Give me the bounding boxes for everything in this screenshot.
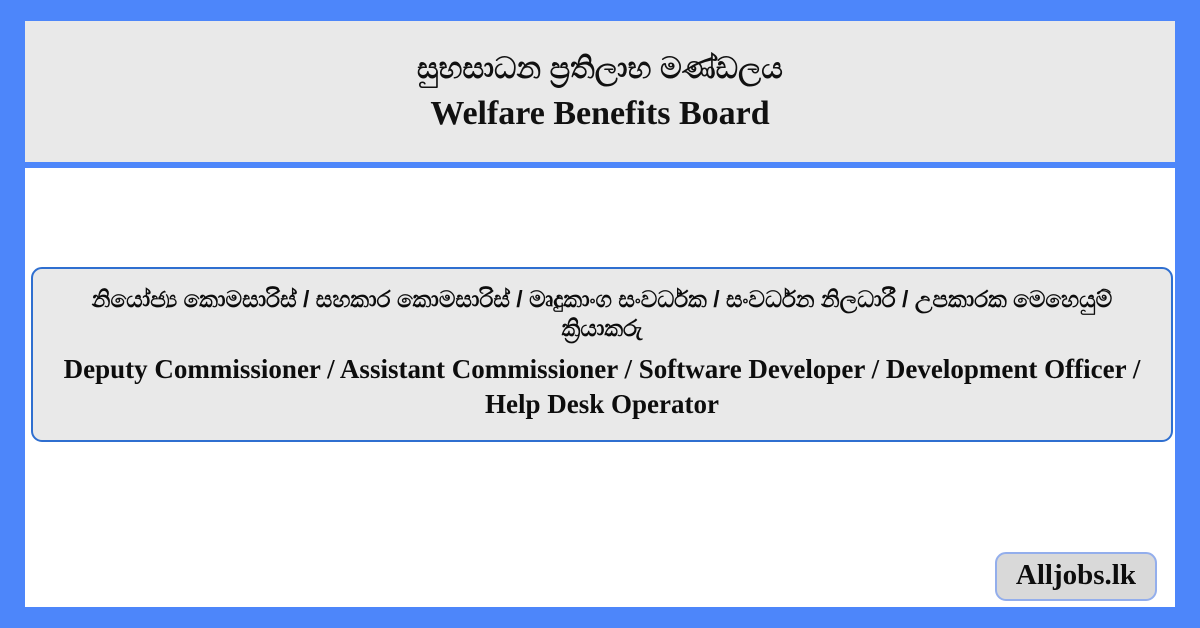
organization-title-sinhala: සුභසාධන ප්‍රතිලාභ මණ්ඩලය [417, 51, 783, 86]
poster-header: සුභසාධන ප්‍රතිලාභ මණ්ඩලය Welfare Benefit… [25, 21, 1175, 162]
brand-badge-label: Alljobs.lk [1016, 559, 1136, 591]
positions-english: Deputy Commissioner / Assistant Commissi… [51, 352, 1153, 422]
brand-badge[interactable]: Alljobs.lk [995, 552, 1157, 601]
positions-sinhala: නියෝජ්‍ය කොමසාරිස් / සහකාර කොමසාරිස් / ම… [51, 285, 1153, 344]
positions-english-line-1: Deputy Commissioner / Assistant Commissi… [64, 354, 879, 384]
positions-card: නියෝජ්‍ය කොමසාරිස් / සහකාර කොමසාරිස් / ම… [31, 267, 1173, 442]
positions-sinhala-line-1: නියෝජ්‍ය කොමසාරිස් / සහකාර කොමසාරිස් / ම… [92, 286, 909, 312]
organization-title-english: Welfare Benefits Board [430, 95, 769, 132]
job-poster: සුභසාධන ප්‍රතිලාභ මණ්ඩලය Welfare Benefit… [0, 0, 1200, 628]
poster-body: නියෝජ්‍ය කොමසාරිස් / සහකාර කොමසාරිස් / ම… [25, 168, 1175, 607]
poster-panel: සුභසාධන ප්‍රතිලාභ මණ්ඩලය Welfare Benefit… [25, 21, 1175, 607]
